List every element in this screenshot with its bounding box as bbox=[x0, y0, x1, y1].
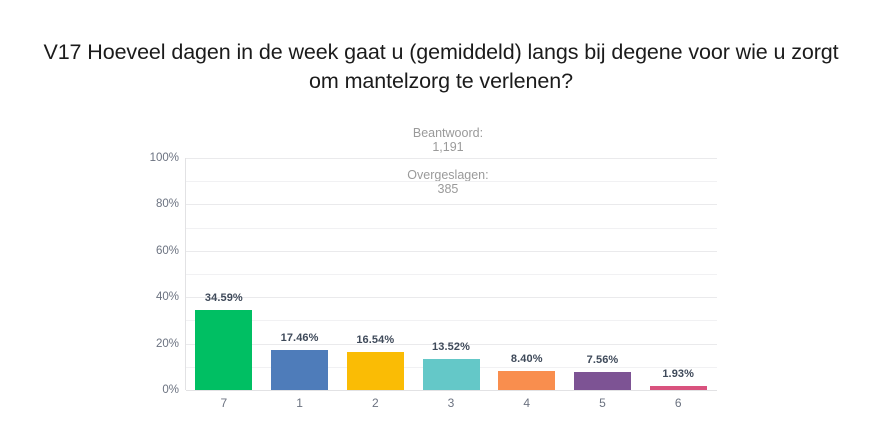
bar-value-label: 34.59% bbox=[205, 292, 243, 304]
bar-value-label: 1.93% bbox=[662, 368, 694, 380]
bar-slot[interactable]: 7.56% bbox=[565, 158, 641, 390]
bar-value-label: 13.52% bbox=[432, 341, 470, 353]
bar[interactable] bbox=[574, 372, 631, 390]
bar-slot[interactable]: 13.52% bbox=[413, 158, 489, 390]
survey-question-card: V17 Hoeveel dagen in de week gaat u (gem… bbox=[0, 0, 882, 432]
x-axis-tick-label: 6 bbox=[640, 396, 716, 418]
y-axis: 0%20%40%60%80%100% bbox=[130, 158, 179, 390]
bar-value-label: 7.56% bbox=[587, 354, 619, 366]
bar[interactable] bbox=[423, 359, 480, 390]
bar-slot[interactable]: 17.46% bbox=[262, 158, 338, 390]
bar[interactable] bbox=[498, 371, 555, 390]
bar-slot[interactable]: 16.54% bbox=[337, 158, 413, 390]
bar-series: 34.59%17.46%16.54%13.52%8.40%7.56%1.93% bbox=[186, 158, 716, 390]
y-axis-tick-label: 60% bbox=[133, 245, 179, 257]
x-axis-tick-label: 5 bbox=[565, 396, 641, 418]
bar[interactable] bbox=[195, 310, 252, 390]
x-axis-tick-label: 7 bbox=[186, 396, 262, 418]
x-axis: 7123456 bbox=[186, 396, 716, 418]
gridline bbox=[186, 390, 717, 391]
bar[interactable] bbox=[650, 386, 707, 390]
x-axis-tick-label: 4 bbox=[489, 396, 565, 418]
y-axis-tick-label: 80% bbox=[133, 198, 179, 210]
x-axis-tick-label: 3 bbox=[413, 396, 489, 418]
bar[interactable] bbox=[271, 350, 328, 391]
bar-slot[interactable]: 1.93% bbox=[640, 158, 716, 390]
bar-value-label: 17.46% bbox=[281, 332, 319, 344]
bar-slot[interactable]: 8.40% bbox=[489, 158, 565, 390]
bar-value-label: 8.40% bbox=[511, 353, 543, 365]
bar[interactable] bbox=[347, 352, 404, 390]
x-axis-tick-label: 1 bbox=[262, 396, 338, 418]
bar-value-label: 16.54% bbox=[356, 334, 394, 346]
y-axis-tick-label: 40% bbox=[133, 291, 179, 303]
x-axis-tick-label: 2 bbox=[337, 396, 413, 418]
y-axis-tick-label: 0% bbox=[133, 384, 179, 396]
y-axis-tick-label: 20% bbox=[133, 338, 179, 350]
bar-chart: 0%20%40%60%80%100% 34.59%17.46%16.54%13.… bbox=[0, 0, 882, 432]
y-axis-tick-label: 100% bbox=[133, 152, 179, 164]
bar-slot[interactable]: 34.59% bbox=[186, 158, 262, 390]
